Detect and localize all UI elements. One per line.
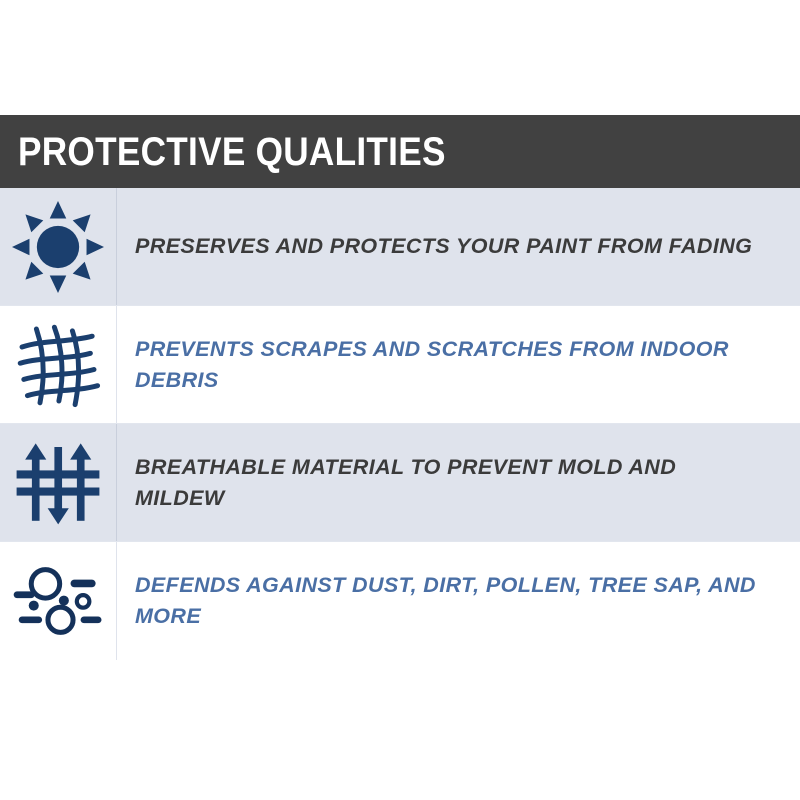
dust-particles-icon (12, 561, 104, 641)
icon-cell (0, 542, 117, 660)
protective-qualities-panel: PROTECTIVE QUALITIES (0, 115, 800, 660)
feature-row-scrapes: PREVENTS SCRAPES AND SCRATCHES FROM INDO… (0, 306, 800, 424)
icon-cell (0, 306, 117, 423)
feature-text: DEFENDS AGAINST DUST, DIRT, POLLEN, TREE… (135, 570, 760, 631)
icon-cell (0, 424, 117, 541)
text-cell: DEFENDS AGAINST DUST, DIRT, POLLEN, TREE… (117, 542, 800, 660)
feature-row-fading: PRESERVES AND PROTECTS YOUR PAINT FROM F… (0, 188, 800, 306)
text-cell: PREVENTS SCRAPES AND SCRATCHES FROM INDO… (117, 306, 800, 423)
text-cell: BREATHABLE MATERIAL TO PREVENT MOLD AND … (117, 424, 800, 541)
sun-icon (12, 201, 104, 293)
text-cell: PRESERVES AND PROTECTS YOUR PAINT FROM F… (117, 188, 800, 305)
mesh-net-icon (13, 320, 103, 410)
feature-row-dust: DEFENDS AGAINST DUST, DIRT, POLLEN, TREE… (0, 542, 800, 660)
page-title: PROTECTIVE QUALITIES (18, 132, 446, 172)
breathable-airflow-icon (13, 438, 103, 528)
feature-text: BREATHABLE MATERIAL TO PREVENT MOLD AND … (135, 452, 760, 513)
feature-row-breathable: BREATHABLE MATERIAL TO PREVENT MOLD AND … (0, 424, 800, 542)
icon-cell (0, 188, 117, 305)
page-canvas: PROTECTIVE QUALITIES (0, 0, 800, 800)
panel-header: PROTECTIVE QUALITIES (0, 115, 800, 188)
feature-text: PRESERVES AND PROTECTS YOUR PAINT FROM F… (135, 231, 752, 262)
feature-text: PREVENTS SCRAPES AND SCRATCHES FROM INDO… (135, 334, 760, 395)
